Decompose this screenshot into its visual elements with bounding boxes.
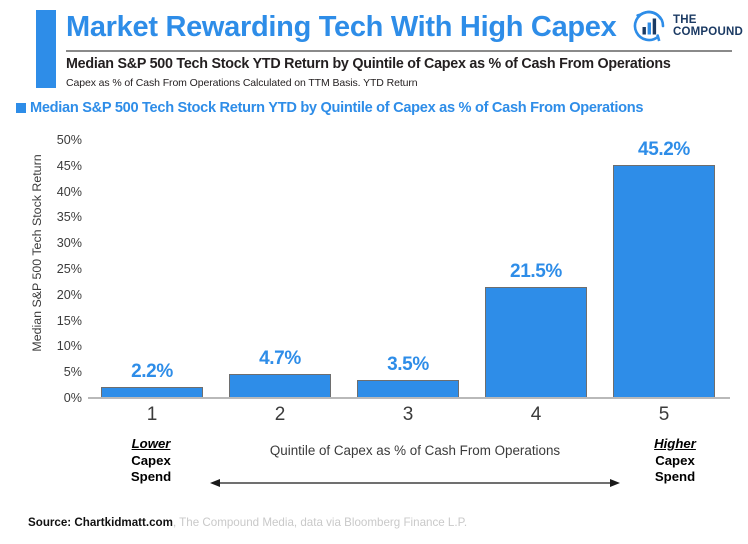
chart-methodology-note: Capex as % of Cash From Operations Calcu… xyxy=(66,77,666,89)
x-axis-category-label: 3 xyxy=(344,404,472,426)
double-headed-arrow-icon xyxy=(210,476,620,490)
higher-capex-line2: Capex xyxy=(655,453,695,468)
y-axis-tick-label: 45% xyxy=(34,159,82,173)
footer-source-detail: , The Compound Media, data via Bloomberg… xyxy=(173,516,467,529)
x-axis-category-label: 5 xyxy=(600,404,728,426)
y-axis-tick-label: 50% xyxy=(34,133,82,147)
lower-capex-emphasis: Lower xyxy=(132,436,171,451)
bar-value-label: 45.2% xyxy=(613,139,715,161)
higher-capex-line3: Spend xyxy=(655,469,695,484)
title-row: Market Rewarding Tech With High Capex xyxy=(66,9,626,47)
bar-quintile-3[interactable] xyxy=(357,380,459,398)
legend-item-label: Median S&P 500 Tech Stock Return YTD by … xyxy=(30,100,643,116)
y-axis-tick-label: 35% xyxy=(34,210,82,224)
lower-capex-annotation: Lower Capex Spend xyxy=(98,436,204,486)
plot-area: 2.2%4.7%3.5%21.5%45.2% xyxy=(88,140,728,398)
header-accent-bar xyxy=(36,10,56,88)
page-title: Market Rewarding Tech With High Capex xyxy=(66,9,626,45)
footer-source-name: Source: Chartkidmatt.com xyxy=(28,516,173,529)
the-compound-logo: THE COMPOUND xyxy=(630,5,746,47)
x-axis-category-label: 4 xyxy=(472,404,600,426)
lower-capex-line2: Capex xyxy=(131,453,171,468)
chart-subtitle: Median S&P 500 Tech Stock YTD Return by … xyxy=(66,56,748,72)
logo-wordmark: THE COMPOUND xyxy=(673,14,743,38)
plot-container: Median S&P 500 Tech Stock Return 0%5%10%… xyxy=(0,126,748,416)
title-divider xyxy=(66,50,732,52)
bar-value-label: 2.2% xyxy=(101,361,203,383)
higher-capex-annotation: Higher Capex Spend xyxy=(622,436,728,486)
y-axis-tick-label: 5% xyxy=(34,365,82,379)
legend-square-icon xyxy=(16,103,26,113)
bar-quintile-2[interactable] xyxy=(229,374,331,398)
higher-capex-emphasis: Higher xyxy=(654,436,696,451)
bar-value-label: 3.5% xyxy=(357,354,459,376)
lower-capex-line3: Spend xyxy=(131,469,171,484)
x-axis-category-label: 2 xyxy=(216,404,344,426)
chart-header: Market Rewarding Tech With High Capex Me… xyxy=(0,0,748,96)
logo-line-2: COMPOUND xyxy=(673,26,743,38)
bar-quintile-5[interactable] xyxy=(613,165,715,398)
bar-value-label: 21.5% xyxy=(485,261,587,283)
logo-line-1: THE xyxy=(673,14,697,26)
y-axis-ticks: 0%5%10%15%20%25%30%35%40%45%50% xyxy=(34,126,82,398)
chart-legend: Median S&P 500 Tech Stock Return YTD by … xyxy=(16,100,643,116)
compound-bars-circle-icon xyxy=(630,7,668,45)
x-axis: Quintile of Capex as % of Cash From Oper… xyxy=(0,400,748,510)
bar-value-label: 4.7% xyxy=(229,348,331,370)
y-axis-tick-label: 20% xyxy=(34,288,82,302)
y-axis-tick-label: 25% xyxy=(34,262,82,276)
bar-quintile-4[interactable] xyxy=(485,287,587,398)
y-axis-tick-label: 30% xyxy=(34,236,82,250)
y-axis-tick-label: 40% xyxy=(34,185,82,199)
y-axis-tick-label: 10% xyxy=(34,339,82,353)
x-axis-title: Quintile of Capex as % of Cash From Oper… xyxy=(180,443,650,458)
y-axis-tick-label: 15% xyxy=(34,314,82,328)
x-axis-baseline xyxy=(88,397,730,399)
source-footer: Source: Chartkidmatt.com, The Compound M… xyxy=(28,516,467,529)
x-axis-category-label: 1 xyxy=(88,404,216,426)
